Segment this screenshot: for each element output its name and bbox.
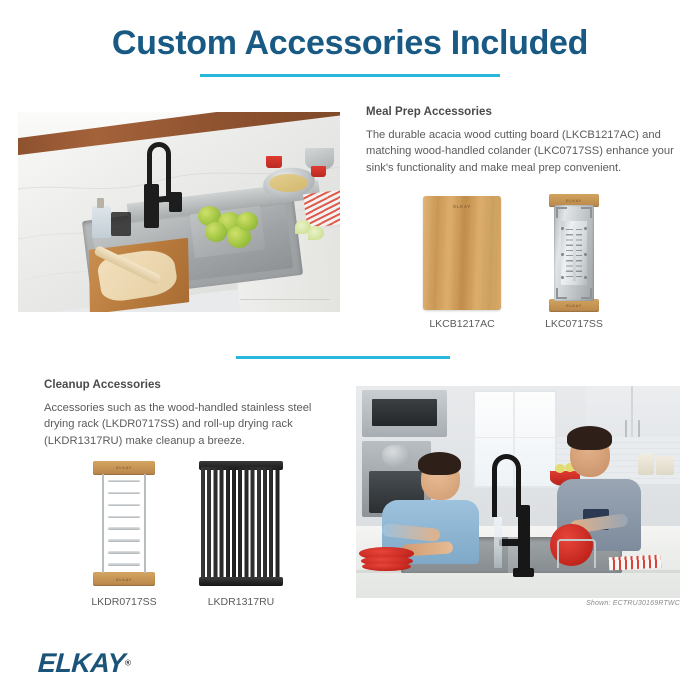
colander-rivet [584,276,587,279]
brand-mark-label: ELKAY [566,303,582,308]
registered-trademark-icon: ® [125,659,131,668]
drying-rack-label: LKDR0717SS [69,596,179,608]
bowl-contents [269,174,308,192]
boys-washing-photo [356,386,680,598]
elkay-logo: ELKAY® [38,648,131,679]
sink-caddy [111,212,130,236]
brand-mark-label: ELKAY [116,465,132,470]
meal-prep-text-block: Meal Prep Accessories The durable acacia… [366,106,678,176]
photo-credit: Shown: ECTRU30169RTWC [478,600,680,607]
rollup-highlight [201,467,281,580]
rack-bar [108,492,140,495]
rack-bar [108,563,140,566]
rack-bar [108,504,140,507]
rack-bar [108,480,140,483]
dish-towel [608,554,660,569]
cleanup-body: Accessories such as the wood-handled sta… [44,400,344,449]
cutting-board-label: LKCB1217AC [403,318,521,330]
soap-pump [97,198,104,208]
faucet-base [513,568,534,576]
faucet-neck [492,454,521,518]
apple [205,222,228,242]
colander-corner-bracket [581,207,592,218]
brand-mark-label: ELKAY [453,204,471,209]
rack-bar [108,516,140,519]
colander-rivet [561,276,564,279]
brand-mark-label: ELKAY [566,198,582,203]
colander-corner-bracket [581,288,592,299]
cabinet-seam [240,299,330,300]
meal-prep-body: The durable acacia wood cutting board (L… [366,127,678,176]
elkay-wordmark: ELKAY [37,648,126,679]
dish-rack-wire [557,539,596,569]
colander-corner-bracket [556,288,567,299]
apple [237,212,258,231]
colander-rivet [584,227,587,230]
rack-bar [108,539,140,542]
kitchen-prep-photo [18,112,340,312]
page-title: Custom Accessories Included [0,24,700,63]
microwave-door [372,399,437,427]
colander-frame [554,205,594,301]
colander-rivet [561,253,564,256]
rack-bar [108,551,140,554]
drying-rack-product-image: ELKAY ELKAY [97,461,151,586]
cleanup-text-block: Cleanup Accessories Accessories such as … [44,379,344,449]
faucet-body [144,184,158,228]
faucet-handle [499,539,525,546]
accessories-page: Custom Accessories Included [0,0,700,700]
soap-dispenser [92,206,111,238]
window-mullion [473,437,557,439]
rollup-end-rail-bottom [199,577,283,586]
colander-corner-bracket [556,207,567,218]
boy-left-hair [418,452,462,475]
measuring-cup [311,166,325,177]
kettle [382,445,411,466]
storage-jar [656,456,674,475]
roll-up-rack-label: LKDR1317RU [186,596,296,608]
meal-prep-heading: Meal Prep Accessories [366,106,678,118]
colander-label: LKC0717SS [519,318,629,330]
measuring-cup [266,156,282,168]
brand-mark-label: ELKAY [116,577,132,582]
roll-up-rack-product-image [199,461,283,586]
cleanup-heading: Cleanup Accessories [44,379,344,391]
wood-grain [423,196,501,310]
running-water [494,517,502,568]
rack-side-frame [102,474,146,573]
boy-right-hair [567,426,612,449]
colander-rivet [561,227,564,230]
colander-product-image: ELKAY ELKAY [549,194,599,312]
section-accent-rule [236,356,450,359]
colander-rivet [584,253,587,256]
colander-center-rib [573,225,576,281]
fruit [555,464,565,472]
storage-jar [638,454,654,475]
cutting-board-product-image: ELKAY [423,196,501,310]
lime-wedge [308,226,324,240]
rack-bar [108,527,140,530]
title-accent-rule [200,74,500,77]
